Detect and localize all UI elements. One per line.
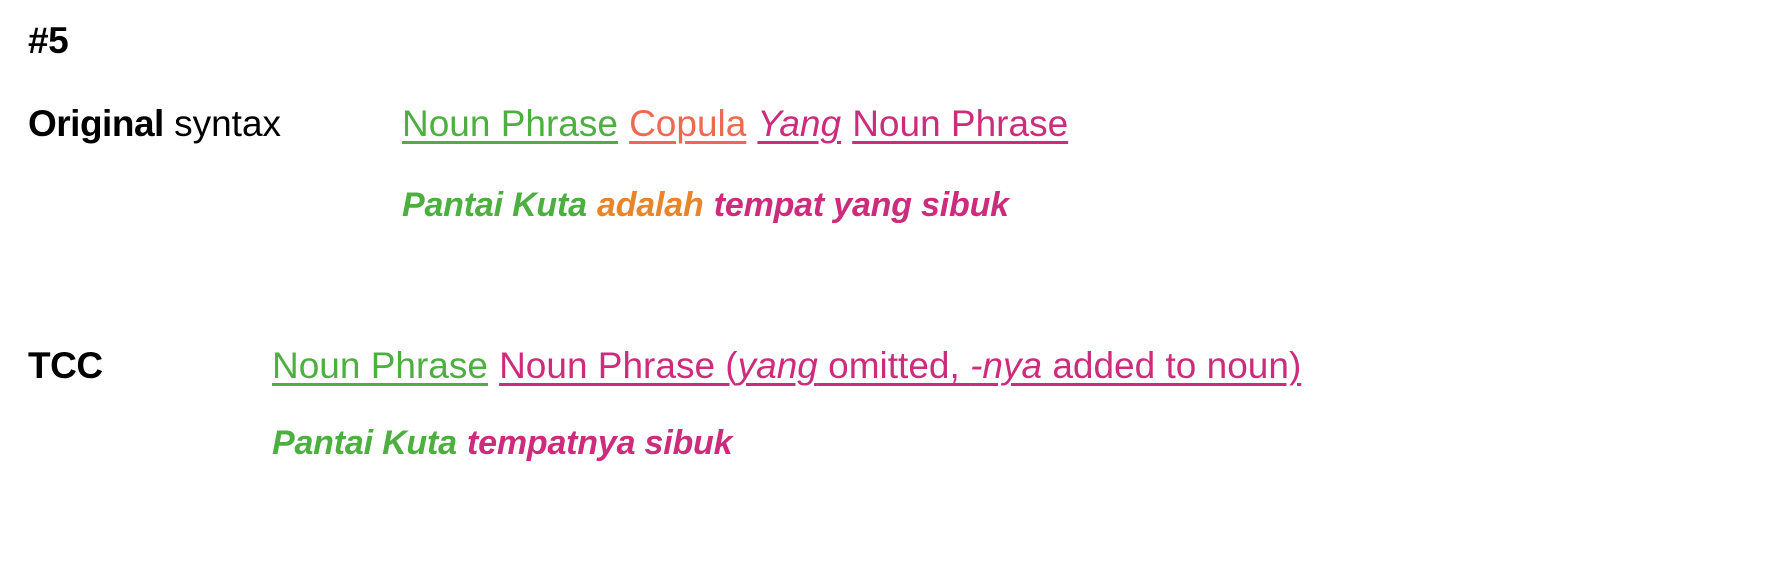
- row-body-tcc: Noun PhraseNoun Phrase (yang omitted, -n…: [272, 342, 1301, 466]
- syntax-noun-phrase-2-tcc: Noun Phrase (: [499, 345, 738, 386]
- example-line-tcc: Pantai Kutatempatnya sibuk: [272, 420, 1301, 466]
- syntax-noun-phrase-1-tcc: Noun Phrase: [272, 345, 488, 386]
- example-predicate-tcc: tempatnya sibuk: [467, 424, 732, 462]
- row-label-original-plain: syntax: [164, 103, 281, 144]
- row-label-original: Original syntax: [28, 100, 281, 148]
- syntax-line-original: Noun PhraseCopulaYangNoun Phrase: [402, 100, 1068, 148]
- row-label-tcc: TCC: [28, 342, 103, 390]
- syntax-yang-original: Yang: [757, 103, 841, 144]
- example-subject-tcc: Pantai Kuta: [272, 424, 457, 462]
- syntax-added-tcc: added to noun): [1042, 345, 1301, 386]
- example-copula-original: adalah: [597, 186, 704, 224]
- row-body-original: Noun PhraseCopulaYangNoun Phrase Pantai …: [402, 100, 1068, 228]
- example-predicate-original: tempat yang sibuk: [714, 186, 1009, 224]
- row-label-tcc-strong: TCC: [28, 345, 103, 386]
- syntax-copula-original: Copula: [629, 103, 746, 144]
- syntax-noun-phrase-2-original: Noun Phrase: [852, 103, 1068, 144]
- syntax-nya-tcc: -nya: [970, 345, 1042, 386]
- example-line-original: Pantai Kutaadalahtempat yang sibuk: [402, 182, 1068, 228]
- example-figure: #5 Original syntax Noun PhraseCopulaYang…: [0, 0, 1784, 582]
- item-number: #5: [28, 22, 68, 59]
- syntax-line-tcc: Noun PhraseNoun Phrase (yang omitted, -n…: [272, 342, 1301, 390]
- syntax-yang-tcc: yang: [738, 345, 818, 386]
- syntax-omitted-tcc: omitted,: [818, 345, 970, 386]
- row-label-original-strong: Original: [28, 103, 164, 144]
- syntax-noun-phrase-1-original: Noun Phrase: [402, 103, 618, 144]
- example-subject-original: Pantai Kuta: [402, 186, 587, 224]
